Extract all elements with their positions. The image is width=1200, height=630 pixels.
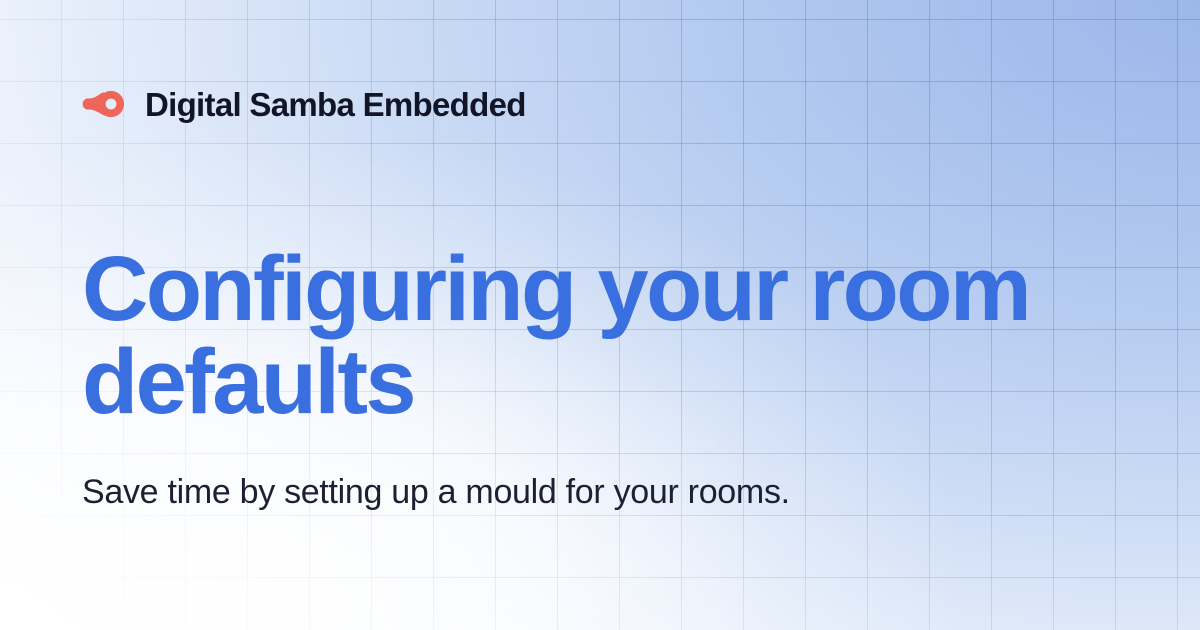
page-subtitle: Save time by setting up a mould for your… <box>82 470 802 515</box>
digital-samba-mark-icon <box>82 90 126 118</box>
brand-lockup: Digital Samba Embedded <box>82 84 526 124</box>
page-title: Configuring your room defaults <box>82 243 1122 429</box>
brand-name: Digital Samba Embedded <box>145 88 526 121</box>
og-card: Digital Samba Embedded Configuring your … <box>0 0 1200 630</box>
card-content: Digital Samba Embedded Configuring your … <box>0 0 1200 630</box>
